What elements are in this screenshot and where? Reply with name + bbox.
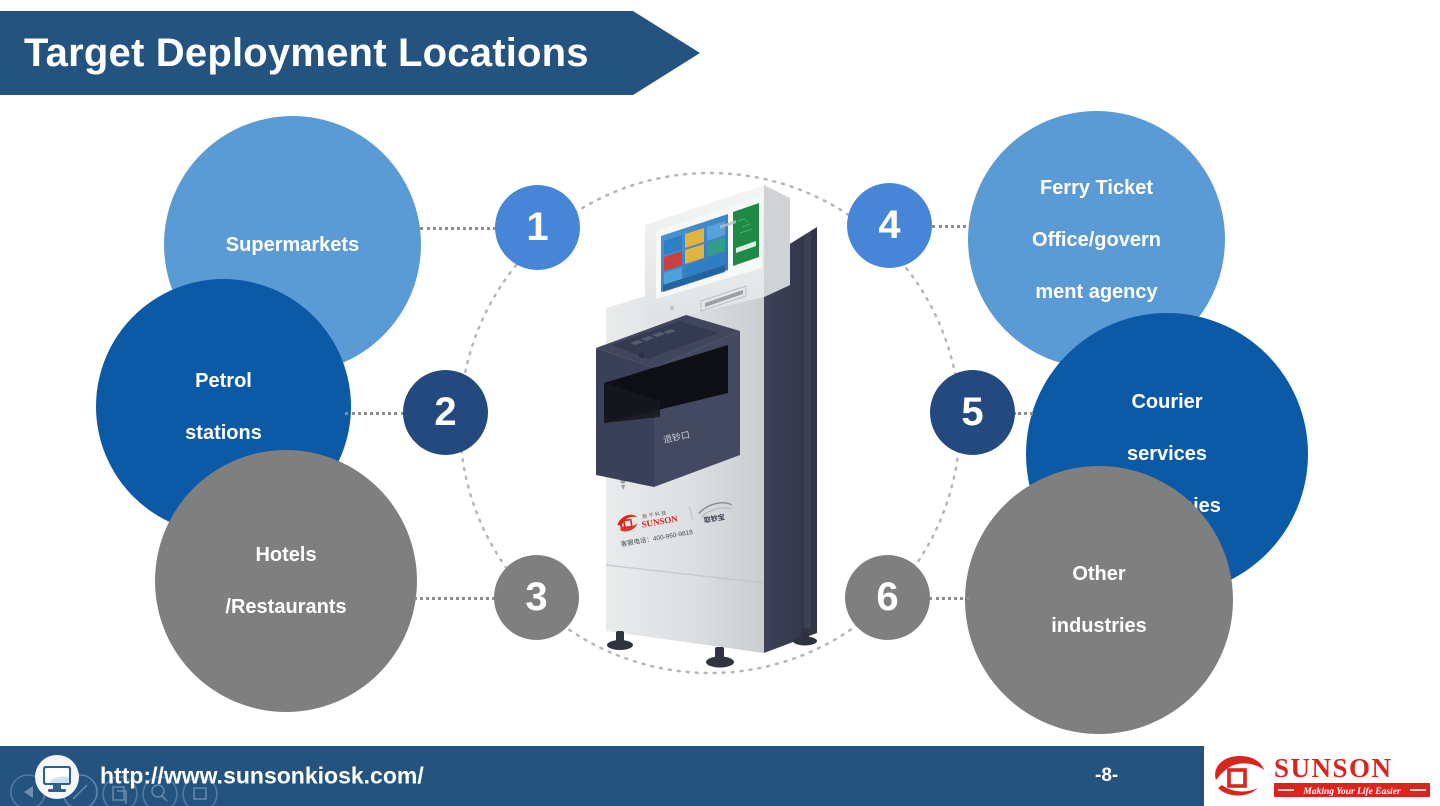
petrol-line-1: Petrol [173,368,274,394]
hotels-line-2: /Restaurants [213,594,358,620]
monitor-icon[interactable] [34,754,80,800]
number-badge-4-label: 4 [878,203,900,248]
courier-line-2: services [1101,441,1233,467]
page-title: Target Deployment Locations [0,31,589,76]
connector-line-4 [932,225,972,228]
connector-line-6 [929,597,970,600]
courier-line-1: Courier [1101,389,1233,415]
location-label-ferry-ticket-office: Ferry Ticket Office/govern ment agency [1008,175,1185,305]
number-badge-5-label: 5 [961,390,983,435]
location-label-supermarkets: Supermarkets [214,232,371,258]
footer-website-url[interactable]: http://www.sunsonkiosk.com/ [100,763,424,790]
petrol-line-2: stations [173,420,274,446]
number-badge-1[interactable]: 1 [495,185,580,270]
location-label-petrol-stations: Petrol stations [161,368,286,446]
slide-canvas: Target Deployment Locations Supermarkets… [0,0,1440,806]
number-badge-6[interactable]: 6 [845,555,930,640]
number-badge-1-label: 1 [526,205,548,250]
number-badge-6-label: 6 [876,575,898,620]
other-line-2: industries [1039,613,1159,639]
title-banner: Target Deployment Locations [0,11,700,95]
location-label-other-industries: Other industries [1027,561,1171,639]
ferry-line-1: Ferry Ticket [1020,175,1173,201]
hotels-line-1: Hotels [213,542,358,568]
back-arrow-icon [24,786,33,798]
location-bubble-other-industries[interactable]: Other industries [965,466,1233,734]
connector-line-3 [414,597,495,600]
number-badge-2[interactable]: 2 [403,370,488,455]
footer-logo-plate: SUNSON Making Your Life Easier [1204,746,1440,806]
sunson-tagline: Making Your Life Easier [1302,787,1401,797]
number-badge-3-label: 3 [525,575,547,620]
sunson-wordmark: SUNSON [1274,753,1393,783]
connector-line-5 [1013,412,1033,415]
connector-line-1 [420,227,496,230]
other-line-1: Other [1039,561,1159,587]
ferry-line-3: ment agency [1020,279,1173,305]
kiosk-machine-image: 退钞口 新 千 科 技 SUNSON 取钞宝 客服电话：400-960-9818 [568,165,858,685]
number-badge-4[interactable]: 4 [847,183,932,268]
location-bubble-hotels-restaurants[interactable]: Hotels /Restaurants [155,450,417,712]
location-label-hotels-restaurants: Hotels /Restaurants [201,542,370,620]
ferry-line-2: Office/govern [1020,227,1173,253]
number-badge-5[interactable]: 5 [930,370,1015,455]
page-number: -8- [1095,765,1118,787]
number-badge-3[interactable]: 3 [494,555,579,640]
sunson-logo: SUNSON Making Your Life Easier [1206,750,1434,802]
connector-line-2 [345,412,404,415]
grid-icon [194,788,206,799]
number-badge-2-label: 2 [434,390,456,435]
footer-bar: http://www.sunsonkiosk.com/ -8- SUNSON M… [0,746,1440,806]
